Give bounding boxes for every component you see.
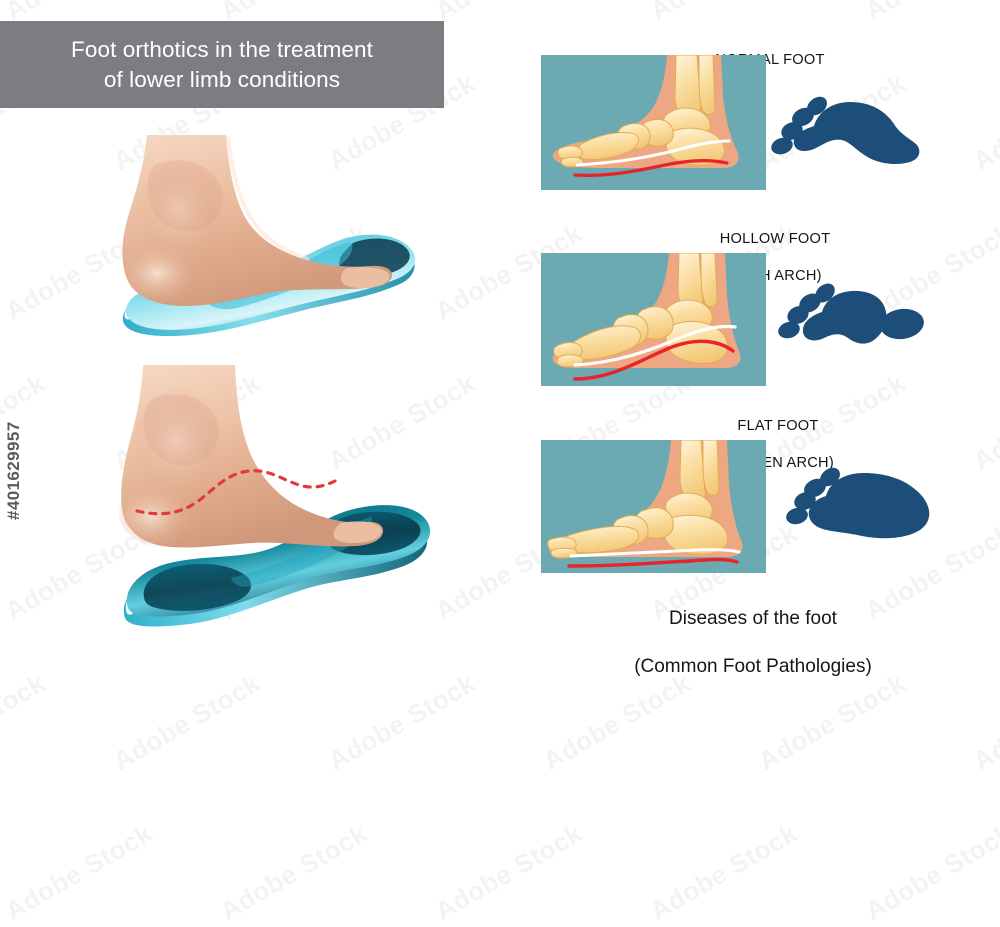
illustration-canvas: Adobe StockAdobe StockAdobe StockAdobe S…: [0, 0, 1000, 667]
watermark-text: Adobe Stock: [430, 818, 588, 927]
title-line-1: Foot orthotics in the treatment: [71, 35, 373, 65]
caption-line-2: (Common Foot Pathologies): [543, 655, 963, 679]
arch-line-red-f: [569, 560, 737, 566]
watermark-text: Adobe Stock: [968, 368, 1000, 477]
watermark-text: Adobe Stock: [215, 818, 373, 927]
bone-fibula-f: [703, 440, 719, 495]
bottom-caption: Diseases of the foot (Common Foot Pathol…: [543, 583, 963, 703]
orthotic-illustration-flat: [105, 365, 450, 635]
watermark-text: Adobe Stock: [860, 0, 1000, 27]
watermark-text: Adobe Stock: [968, 668, 1000, 777]
watermark-text: Adobe Stock: [0, 668, 50, 777]
watermark-text: Adobe Stock: [645, 818, 803, 927]
panel-flat-foot: [541, 440, 766, 573]
title-line-2: of lower limb conditions: [71, 65, 373, 95]
bone-fibula: [699, 55, 715, 114]
watermark-text: Adobe Stock: [323, 668, 481, 777]
bone-fibula-h: [701, 253, 717, 306]
watermark-text: Adobe Stock: [0, 818, 158, 927]
footprint-flat-foot: [786, 464, 936, 544]
heel-highlight: [125, 238, 209, 302]
watermark-text: Adobe Stock: [108, 668, 266, 777]
watermark-text: Adobe Stock: [645, 0, 803, 27]
caption-line-1: Diseases of the foot: [543, 607, 963, 631]
panel-hollow-foot: [541, 253, 766, 386]
footprint-hollow-foot: [778, 282, 928, 360]
watermark-text: Adobe Stock: [860, 818, 1000, 927]
stock-id-watermark: #401629957: [4, 421, 24, 520]
watermark-text: Adobe Stock: [968, 68, 1000, 177]
orthotic-illustration-normal: [95, 135, 445, 350]
panel-normal-foot: [541, 55, 766, 190]
foot-normal-arch: [122, 135, 392, 306]
bone-tibia-f: [680, 440, 705, 502]
title-banner: Foot orthotics in the treatment of lower…: [0, 21, 444, 108]
footprint-normal-foot: [770, 90, 925, 170]
watermark-text: Adobe Stock: [430, 0, 588, 27]
